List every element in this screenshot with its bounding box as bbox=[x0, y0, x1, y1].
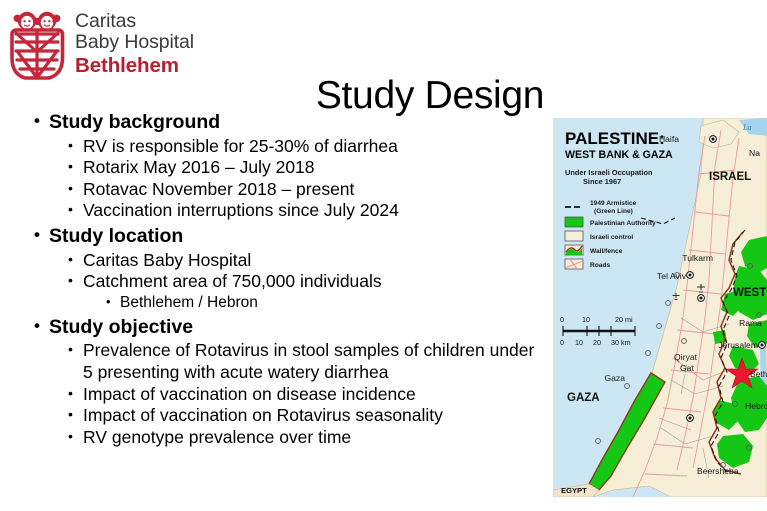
bullet-icon: • bbox=[68, 136, 83, 156]
list-item: • Impact of vaccination on Rotavirus sea… bbox=[68, 405, 544, 427]
label-tel-aviv: Tel Aviv bbox=[657, 271, 687, 281]
label-hebron-alt: Hebro bbox=[745, 401, 767, 411]
bullet-icon: • bbox=[68, 157, 83, 177]
legend-label-israeli-control: Israeli control bbox=[590, 234, 633, 241]
label-ramallah: Rama bbox=[739, 318, 762, 328]
map-graphic: PALESTINE: WEST BANK & GAZA Under Israel… bbox=[553, 118, 767, 497]
label-gaza-strip: GAZA bbox=[567, 392, 600, 404]
bullet-icon: • bbox=[68, 200, 83, 220]
list-item-text: Vaccination interruptions since July 202… bbox=[83, 200, 544, 222]
list-item: • Catchment area of 750,000 individuals bbox=[68, 271, 544, 293]
list-item: • Prevalence of Rotavirus in stool sampl… bbox=[68, 340, 544, 383]
label-nazareth: Na bbox=[749, 148, 760, 158]
section-heading: • Study objective bbox=[34, 315, 544, 340]
list-item-text: Impact of vaccination on disease inciden… bbox=[83, 384, 544, 406]
bullet-icon: • bbox=[34, 110, 49, 133]
list-item: • RV is responsible for 25-30% of diarrh… bbox=[68, 136, 544, 158]
section-heading-text: Study background bbox=[49, 110, 220, 135]
list-item: • Rotarix May 2016 – July 2018 bbox=[68, 157, 544, 179]
scale-km-30: 30 km bbox=[611, 338, 631, 347]
label-bethlehem: Beth bbox=[750, 369, 767, 379]
list-item: • Impact of vaccination on disease incid… bbox=[68, 384, 544, 406]
legend-swatch-palestinian-authority bbox=[565, 217, 583, 227]
logo-line-caritas: Caritas bbox=[75, 11, 194, 32]
map-subtitle-line1: Under Israeli Occupation bbox=[565, 168, 653, 177]
scale-km-10: 10 bbox=[575, 338, 583, 347]
palestine-map-figure: PALESTINE: WEST BANK & GAZA Under Israel… bbox=[553, 118, 767, 497]
section-study-background: • Study background • RV is responsible f… bbox=[34, 110, 544, 222]
bullet-icon: • bbox=[68, 384, 83, 404]
bullet-icon: • bbox=[34, 224, 49, 247]
list-item-text: Rotarix May 2016 – July 2018 bbox=[83, 157, 544, 179]
list-item-text: Bethlehem / Hebron bbox=[120, 293, 258, 313]
label-jerusalem: Jerusalem bbox=[718, 340, 758, 350]
list-item-text: Impact of vaccination on Rotavirus seaso… bbox=[83, 405, 544, 427]
list-item-text: Catchment area of 750,000 individuals bbox=[83, 271, 544, 293]
section-heading-text: Study location bbox=[49, 224, 183, 249]
map-subtitle-line2: Since 1967 bbox=[583, 177, 621, 186]
scale-km-0: 0 bbox=[560, 338, 564, 347]
section-heading: • Study background bbox=[34, 110, 544, 135]
list-item: • Rotavac November 2018 – present bbox=[68, 179, 544, 201]
list-item-text: Rotavac November 2018 – present bbox=[83, 179, 544, 201]
map-title-line2: WEST BANK & GAZA bbox=[565, 149, 673, 161]
list-item: • Bethlehem / Hebron bbox=[106, 293, 544, 313]
list-item-text: RV is responsible for 25-30% of diarrhea bbox=[83, 136, 544, 158]
label-gaza-city: Gaza bbox=[604, 373, 625, 383]
legend-swatch-israeli-control bbox=[565, 231, 583, 241]
label-beersheba: Beersheba bbox=[697, 466, 739, 476]
map-title-line1: PALESTINE: bbox=[565, 129, 665, 148]
scale-mi-10: 10 bbox=[582, 315, 590, 324]
legend-label-palestinian-authority: Palestinian Authority bbox=[590, 220, 656, 227]
bullet-icon: • bbox=[68, 340, 83, 360]
scale-km-20: 20 bbox=[593, 338, 601, 347]
twin-swaddled-babies-icon bbox=[8, 8, 66, 80]
label-west-bank: WEST bbox=[733, 287, 766, 299]
section-heading: • Study location bbox=[34, 224, 544, 249]
section-study-location: • Study location • Caritas Baby Hospital… bbox=[34, 224, 544, 313]
list-item-text: RV genotype prevalence over time bbox=[83, 427, 544, 449]
list-item: • Caritas Baby Hospital bbox=[68, 250, 544, 272]
label-tulkarm: Tulkarm bbox=[682, 253, 713, 263]
logo-wordmark: Caritas Baby Hospital Bethlehem bbox=[75, 8, 194, 77]
legend-swatch-roads bbox=[565, 259, 583, 269]
bullet-icon: • bbox=[68, 250, 83, 270]
list-item-text: Caritas Baby Hospital bbox=[83, 250, 544, 272]
slide-body: • Study background • RV is responsible f… bbox=[34, 110, 544, 450]
legend-label-wall-fence: Wall/fence bbox=[590, 248, 623, 255]
hospital-logo: Caritas Baby Hospital Bethlehem bbox=[8, 8, 194, 80]
label-israel: ISRAEL bbox=[709, 171, 751, 183]
list-item-text: Prevalence of Rotavirus in stool samples… bbox=[83, 340, 544, 383]
section-heading-text: Study objective bbox=[49, 315, 193, 340]
scale-mi-20: 20 mi bbox=[615, 315, 633, 324]
legend-label-armistice-1: 1949 Armistice bbox=[590, 200, 637, 207]
label-gat: Gat bbox=[680, 363, 694, 373]
bullet-icon: • bbox=[68, 427, 83, 447]
scale-mi-0: 0 bbox=[560, 315, 564, 324]
bullet-icon: • bbox=[34, 315, 49, 338]
section-study-objective: • Study objective • Prevalence of Rotavi… bbox=[34, 315, 544, 448]
bullet-icon: • bbox=[106, 293, 120, 311]
label-egypt: EGYPT bbox=[561, 486, 587, 495]
logo-line-baby-hospital: Baby Hospital bbox=[75, 32, 194, 53]
bullet-icon: • bbox=[68, 405, 83, 425]
logo-line-bethlehem: Bethlehem bbox=[75, 54, 194, 77]
list-item: • RV genotype prevalence over time bbox=[68, 427, 544, 449]
legend-label-armistice-2: (Green Line) bbox=[594, 208, 633, 215]
list-item: • Vaccination interruptions since July 2… bbox=[68, 200, 544, 222]
label-lake: La bbox=[742, 123, 751, 132]
legend-swatch-wall-fence bbox=[565, 245, 583, 255]
legend-label-roads: Roads bbox=[590, 262, 610, 269]
bullet-icon: • bbox=[68, 271, 83, 291]
label-qiryat: Qiryat bbox=[674, 352, 698, 362]
bullet-icon: • bbox=[68, 179, 83, 199]
label-haifa: Haifa bbox=[659, 134, 679, 144]
